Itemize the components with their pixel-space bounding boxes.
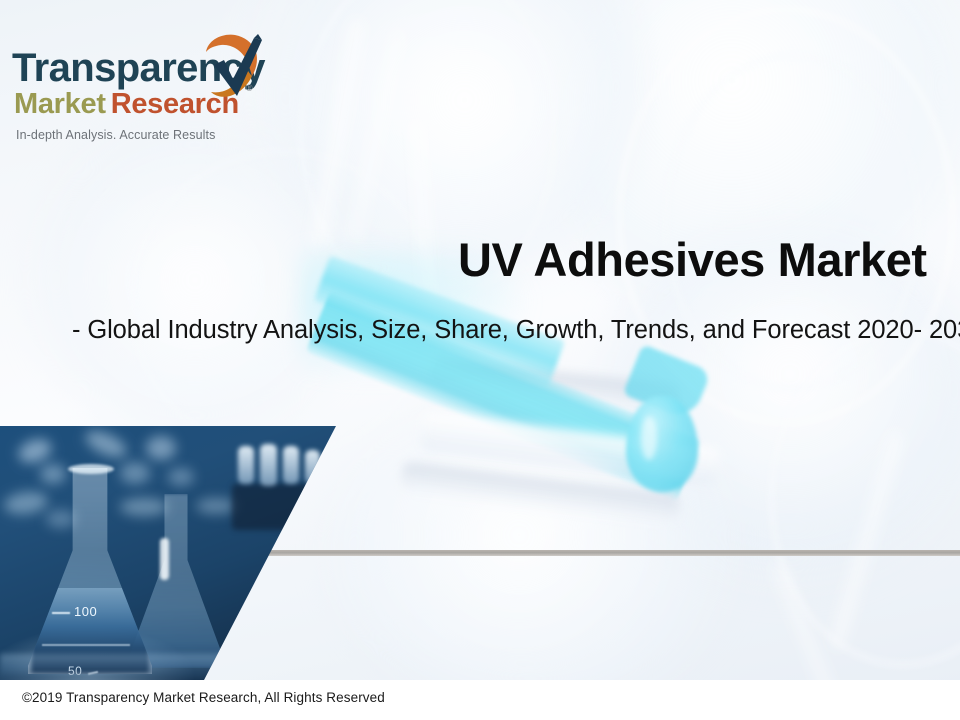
logo-tagline: In-depth Analysis. Accurate Results [16,128,215,142]
page-title: UV Adhesives Market [458,232,927,287]
flask-graduation-line [42,644,130,646]
logo-word-market: Market [14,88,106,120]
rear-flask-highlight [160,538,169,580]
company-logo[interactable]: Transparency MarketResearch In-depth Ana… [10,24,280,130]
page-subtitle: - Global Industry Analysis, Size, Share,… [72,316,960,345]
lab-vial [283,446,299,484]
flask-graduation-100: 100 [74,604,97,619]
flask-graduation-line [52,612,70,614]
lab-vial [238,446,254,484]
checkmark-swoosh-icon [202,32,270,104]
flask-lip [68,464,114,474]
registered-trademark-icon: ® [246,83,253,93]
horizontal-divider [262,550,960,556]
footer-copyright: ©2019 Transparency Market Research, All … [22,690,385,705]
lab-vial [260,444,277,486]
slide-canvas: 100 50 25 Transparency MarketResearch In… [0,0,960,720]
